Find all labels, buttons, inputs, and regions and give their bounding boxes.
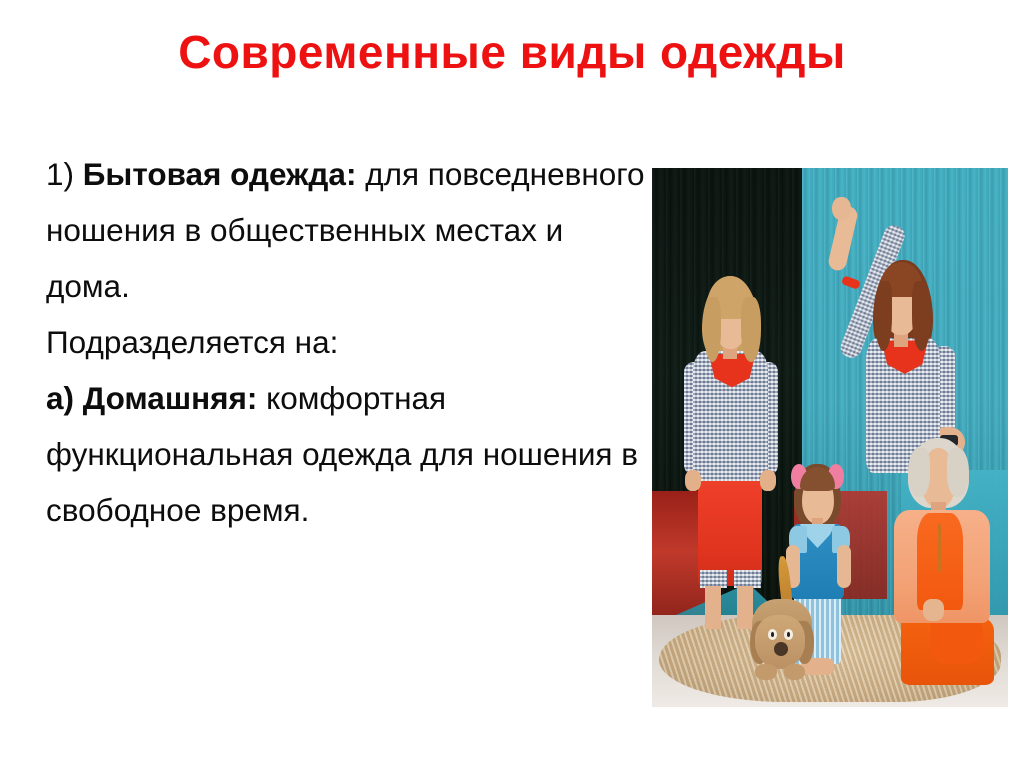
photo-scene	[652, 168, 1008, 707]
woman-blonde-leg-right	[737, 586, 753, 629]
page-title: Современные виды одежды	[0, 24, 1024, 80]
woman-kneeling-curl-left	[908, 448, 929, 497]
paragraph-domashnyaya: а) Домашняя: комфортная функциональная о…	[46, 370, 646, 538]
child-arm-right	[837, 545, 851, 588]
paragraph-podrazdelyaetsya: Подразделяется на:	[46, 314, 646, 370]
clothing-photo	[652, 168, 1008, 707]
slide-root: Современные виды одежды 1) Бытовая одежд…	[0, 0, 1024, 767]
woman-blonde-leg-left	[705, 586, 721, 629]
paragraph-term: Бытовая одежда:	[83, 156, 357, 192]
woman-kneeling-hand	[923, 599, 944, 621]
woman-blonde-hand-left	[685, 470, 701, 492]
woman-blonde-hair-side-right	[741, 297, 761, 362]
toy-dog-paw-right	[784, 664, 805, 680]
paragraph-definition: Подразделяется на:	[46, 324, 338, 360]
woman-brunette-fist	[832, 197, 851, 221]
toy-dog-paw-left	[755, 664, 776, 680]
paragraph-bytovaya: 1) Бытовая одежда: для повседневного нош…	[46, 146, 646, 314]
woman-kneeling-curl-right	[947, 448, 968, 497]
paragraph-term: а) Домашняя:	[46, 380, 257, 416]
body-text-column: 1) Бытовая одежда: для повседневного нош…	[46, 146, 646, 538]
woman-kneeling-placket	[938, 524, 942, 573]
woman-brunette-hair-side-left	[875, 281, 893, 351]
woman-blonde-hand-right	[760, 470, 776, 492]
paragraph-marker: 1)	[46, 156, 74, 192]
